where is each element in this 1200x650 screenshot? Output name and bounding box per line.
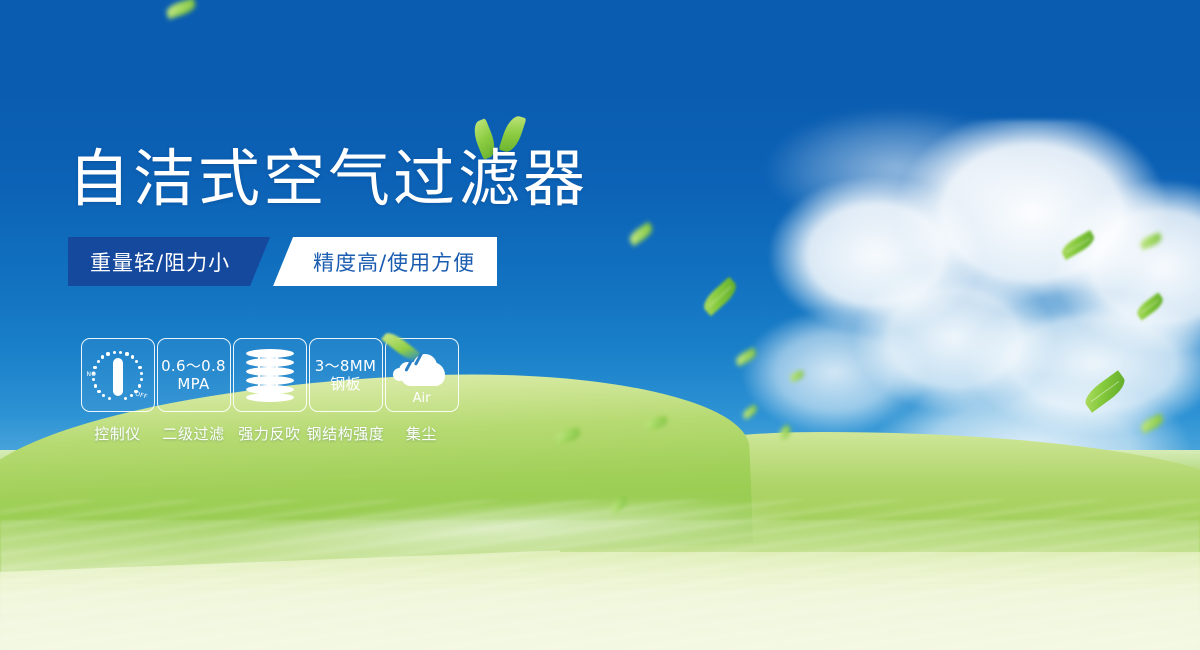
banner-content: 自洁式空气过滤器 重量轻/阻力小 精度高/使用方便 NOOFF控制仪0.6～0.… bbox=[0, 0, 1200, 650]
dial-tick-dot bbox=[113, 351, 116, 354]
coil-ring bbox=[246, 367, 294, 376]
feature-icon-box[interactable]: 0.6～0.8 MPA bbox=[157, 338, 231, 412]
coil-ring bbox=[246, 376, 294, 385]
dial-tick-dot bbox=[140, 378, 143, 381]
dial-tick-dot bbox=[97, 390, 100, 393]
feature-icon-row: NOOFF控制仪0.6～0.8 MPA二级过滤强力反吹3～8MM 钢板钢结构强度… bbox=[80, 338, 460, 444]
dial-tick-dot bbox=[130, 394, 133, 397]
dial-tick-dot bbox=[124, 397, 127, 400]
feature-item-1[interactable]: 0.6～0.8 MPA二级过滤 bbox=[156, 338, 231, 444]
coil-ring bbox=[246, 358, 294, 367]
feature-item-3[interactable]: 3～8MM 钢板钢结构强度 bbox=[308, 338, 383, 444]
feature-item-2[interactable]: 强力反吹 bbox=[232, 338, 307, 444]
dial-tick-dot bbox=[138, 384, 141, 387]
dial-tick-dot bbox=[92, 378, 95, 381]
feature-icon-text: 3～8MM 钢板 bbox=[315, 357, 376, 393]
feature-icon-box[interactable]: NOOFF bbox=[81, 338, 155, 412]
dial-tick-dot bbox=[125, 352, 128, 355]
banner-title: 自洁式空气过滤器 bbox=[68, 141, 588, 217]
subtitle-bar: 重量轻/阻力小 精度高/使用方便 bbox=[68, 237, 497, 286]
subtitle-left-block: 重量轻/阻力小 bbox=[68, 237, 270, 286]
subtitle-right-block: 精度高/使用方便 bbox=[273, 237, 497, 286]
dial-tick-dot bbox=[108, 397, 111, 400]
coil-ring bbox=[246, 349, 294, 358]
product-banner: 自洁式空气过滤器 重量轻/阻力小 精度高/使用方便 NOOFF控制仪0.6～0.… bbox=[0, 0, 1200, 650]
coil-ring bbox=[246, 393, 294, 402]
dial-needle bbox=[113, 358, 123, 396]
dial-tick-dot bbox=[97, 360, 100, 363]
dial-tick-dot bbox=[106, 352, 109, 355]
feature-label: 强力反吹 bbox=[238, 423, 300, 444]
feature-item-0[interactable]: NOOFF控制仪 bbox=[80, 338, 155, 444]
dial-tick-dot bbox=[135, 360, 138, 363]
feature-icon-box[interactable]: Air bbox=[385, 338, 459, 412]
dial-label-no: NO bbox=[87, 371, 97, 378]
feature-icon-box[interactable]: 3～8MM 钢板 bbox=[309, 338, 383, 412]
dial-gauge-icon: NOOFF bbox=[87, 345, 149, 405]
feature-icon-box[interactable] bbox=[233, 338, 307, 412]
coil-spring-icon bbox=[242, 347, 298, 403]
feature-label: 控制仪 bbox=[94, 423, 141, 444]
coil-vertical-bar bbox=[267, 352, 269, 398]
feature-item-4[interactable]: Air集尘 bbox=[384, 338, 459, 444]
air-cloud-icon: Air bbox=[391, 346, 453, 404]
feature-label: 钢结构强度 bbox=[307, 423, 385, 444]
dial-tick-dot bbox=[102, 394, 105, 397]
dial-tick-dot bbox=[140, 372, 143, 375]
feature-label: 二级过滤 bbox=[162, 423, 224, 444]
dial-tick-dot bbox=[101, 355, 104, 358]
coil-vertical-bar bbox=[276, 352, 278, 398]
air-icon-label: Air bbox=[391, 391, 453, 406]
dial-tick-dot bbox=[131, 355, 134, 358]
dial-tick-dot bbox=[93, 366, 96, 369]
coil-vertical-bar bbox=[258, 352, 260, 398]
dial-tick-dot bbox=[119, 351, 122, 354]
dial-tick-dot bbox=[94, 384, 97, 387]
dial-label-off: OFF bbox=[134, 390, 148, 400]
feature-label: 集尘 bbox=[406, 423, 437, 444]
feature-icon-text: 0.6～0.8 MPA bbox=[161, 357, 226, 393]
dial-tick-dot bbox=[138, 366, 141, 369]
